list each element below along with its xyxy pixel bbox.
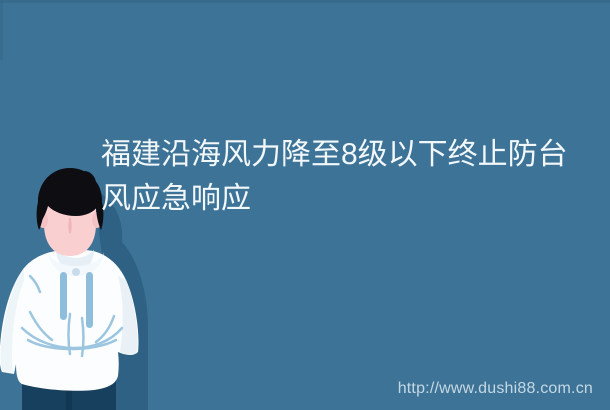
left-edge-line [0,0,3,60]
watermark-url: http://www.dushi88.com.cn [398,380,593,398]
page-title: 福建沿海风力降至8级以下终止防台风应急响应 [101,133,571,221]
top-edge-line [0,0,610,3]
poster-canvas: 福建沿海风力降至8级以下终止防台风应急响应 http://www.dushi88… [0,0,610,410]
